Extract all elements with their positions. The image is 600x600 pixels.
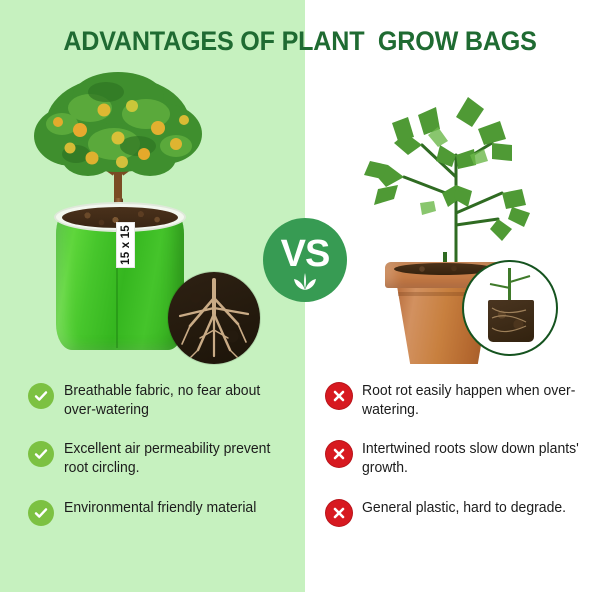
list-item-label: Root rot easily happen when over-waterin… [362,382,579,419]
leaf-icon [292,272,318,290]
size-label-text: 15 x 15 [120,225,132,265]
citrus-tree-icon [18,62,218,212]
tomato-plant-icon [352,85,562,265]
cross-icon [326,383,352,409]
list-item: General plastic, hard to degrade. [326,499,588,526]
cross-icon [326,500,352,526]
healthy-roots-icon [168,272,260,364]
list-item-label: Breathable fabric, no fear about over-wa… [64,382,281,419]
list-item: Intertwined roots slow down plants' grow… [326,440,588,477]
check-icon [28,383,54,409]
cross-icon [326,441,352,467]
list-item-label: Excellent air permeability prevent root … [64,440,281,477]
check-icon [28,441,54,467]
bottom-white-strip [0,592,305,600]
list-item: Excellent air permeability prevent root … [28,440,290,477]
infographic-page: ADVANTAGES OF PLANT GROW BAGS [0,0,600,600]
advantages-list: Breathable fabric, no fear about over-wa… [28,382,290,547]
list-item: Breathable fabric, no fear about over-wa… [28,382,290,419]
list-item: Root rot easily happen when over-waterin… [326,382,588,419]
grow-bag-icon [52,198,188,350]
list-item-label: General plastic, hard to degrade. [362,499,566,518]
list-item-label: Intertwined roots slow down plants' grow… [362,440,579,477]
disadvantages-list: Root rot easily happen when over-waterin… [326,382,588,547]
vs-badge: VS [263,218,347,302]
list-item-label: Environmental friendly material [64,499,256,518]
page-title: ADVANTAGES OF PLANT GROW BAGS [21,26,579,57]
vs-label: VS [281,235,330,273]
size-label: 15 x 15 [116,222,135,268]
check-icon [28,500,54,526]
list-item: Environmental friendly material [28,499,290,526]
root-bound-icon [462,260,558,356]
